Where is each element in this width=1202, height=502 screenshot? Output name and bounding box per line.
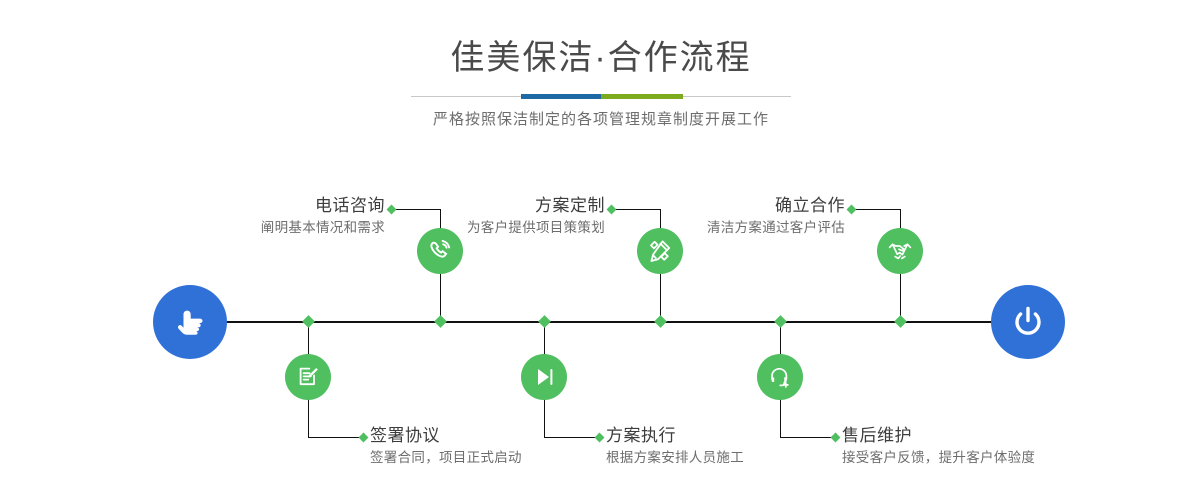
- node-elbow: [852, 209, 900, 210]
- step-desc: 根据方案安排人员施工: [606, 447, 826, 469]
- node-elbow: [544, 437, 600, 438]
- step-title: 电话咨询: [180, 195, 385, 217]
- headset-support-icon: [767, 364, 793, 390]
- step-desc: 阐明基本情况和需求: [180, 217, 385, 239]
- node-diamond-marker: [538, 315, 551, 328]
- node-icon-badge[interactable]: [521, 354, 567, 400]
- timeline-end-endpoint: [991, 285, 1065, 359]
- node-diamond-marker: [302, 315, 315, 328]
- step-title: 签署协议: [370, 425, 600, 447]
- node-diamond-marker: [774, 315, 787, 328]
- node-elbow: [308, 437, 364, 438]
- step-desc: 签署合同，项目正式启动: [370, 447, 600, 469]
- node-elbow-dot: [607, 205, 617, 215]
- step-label-step-1: 电话咨询 阐明基本情况和需求: [180, 195, 385, 239]
- node-elbow-dot: [359, 433, 369, 443]
- step-label-step-3: 方案定制 为客户提供项目策策划: [392, 195, 605, 239]
- step-label-step-5: 确立合作 清洁方案通过客户评估: [632, 195, 845, 239]
- node-elbow-dot: [831, 433, 841, 443]
- power-icon: [1008, 302, 1048, 342]
- node-diamond-marker: [434, 315, 447, 328]
- node-icon-badge[interactable]: [285, 354, 331, 400]
- handshake-icon: [887, 238, 913, 264]
- document-edit-icon: [295, 364, 321, 390]
- phone-call-icon: [427, 238, 453, 264]
- step-title: 售后维护: [842, 425, 1102, 447]
- node-icon-badge[interactable]: [757, 354, 803, 400]
- step-label-step-6: 售后维护 接受客户反馈，提升客户体验度: [842, 425, 1102, 469]
- node-elbow: [780, 437, 836, 438]
- node-diamond-marker: [894, 315, 907, 328]
- node-icon-badge[interactable]: [877, 228, 923, 274]
- infographic-root: 佳美保洁·合作流程 严格按照保洁制定的各项管理规章制度开展工作: [0, 0, 1202, 502]
- node-elbow-dot: [847, 205, 857, 215]
- step-label-step-2: 签署协议 签署合同，项目正式启动: [370, 425, 600, 469]
- step-title: 方案定制: [392, 195, 605, 217]
- step-desc: 为客户提供项目策策划: [392, 217, 605, 239]
- timeline-start-endpoint: [153, 285, 227, 359]
- step-desc: 接受客户反馈，提升客户体验度: [842, 447, 1102, 469]
- node-diamond-marker: [654, 315, 667, 328]
- step-label-step-4: 方案执行 根据方案安排人员施工: [606, 425, 826, 469]
- step-desc: 清洁方案通过客户评估: [632, 217, 845, 239]
- step-title: 确立合作: [632, 195, 845, 217]
- pointing-hand-icon: [170, 302, 210, 342]
- play-skip-icon: [531, 364, 557, 390]
- pencil-ruler-icon: [647, 238, 673, 264]
- process-timeline: 电话咨询 阐明基本情况和需求: [0, 0, 1202, 502]
- step-title: 方案执行: [606, 425, 826, 447]
